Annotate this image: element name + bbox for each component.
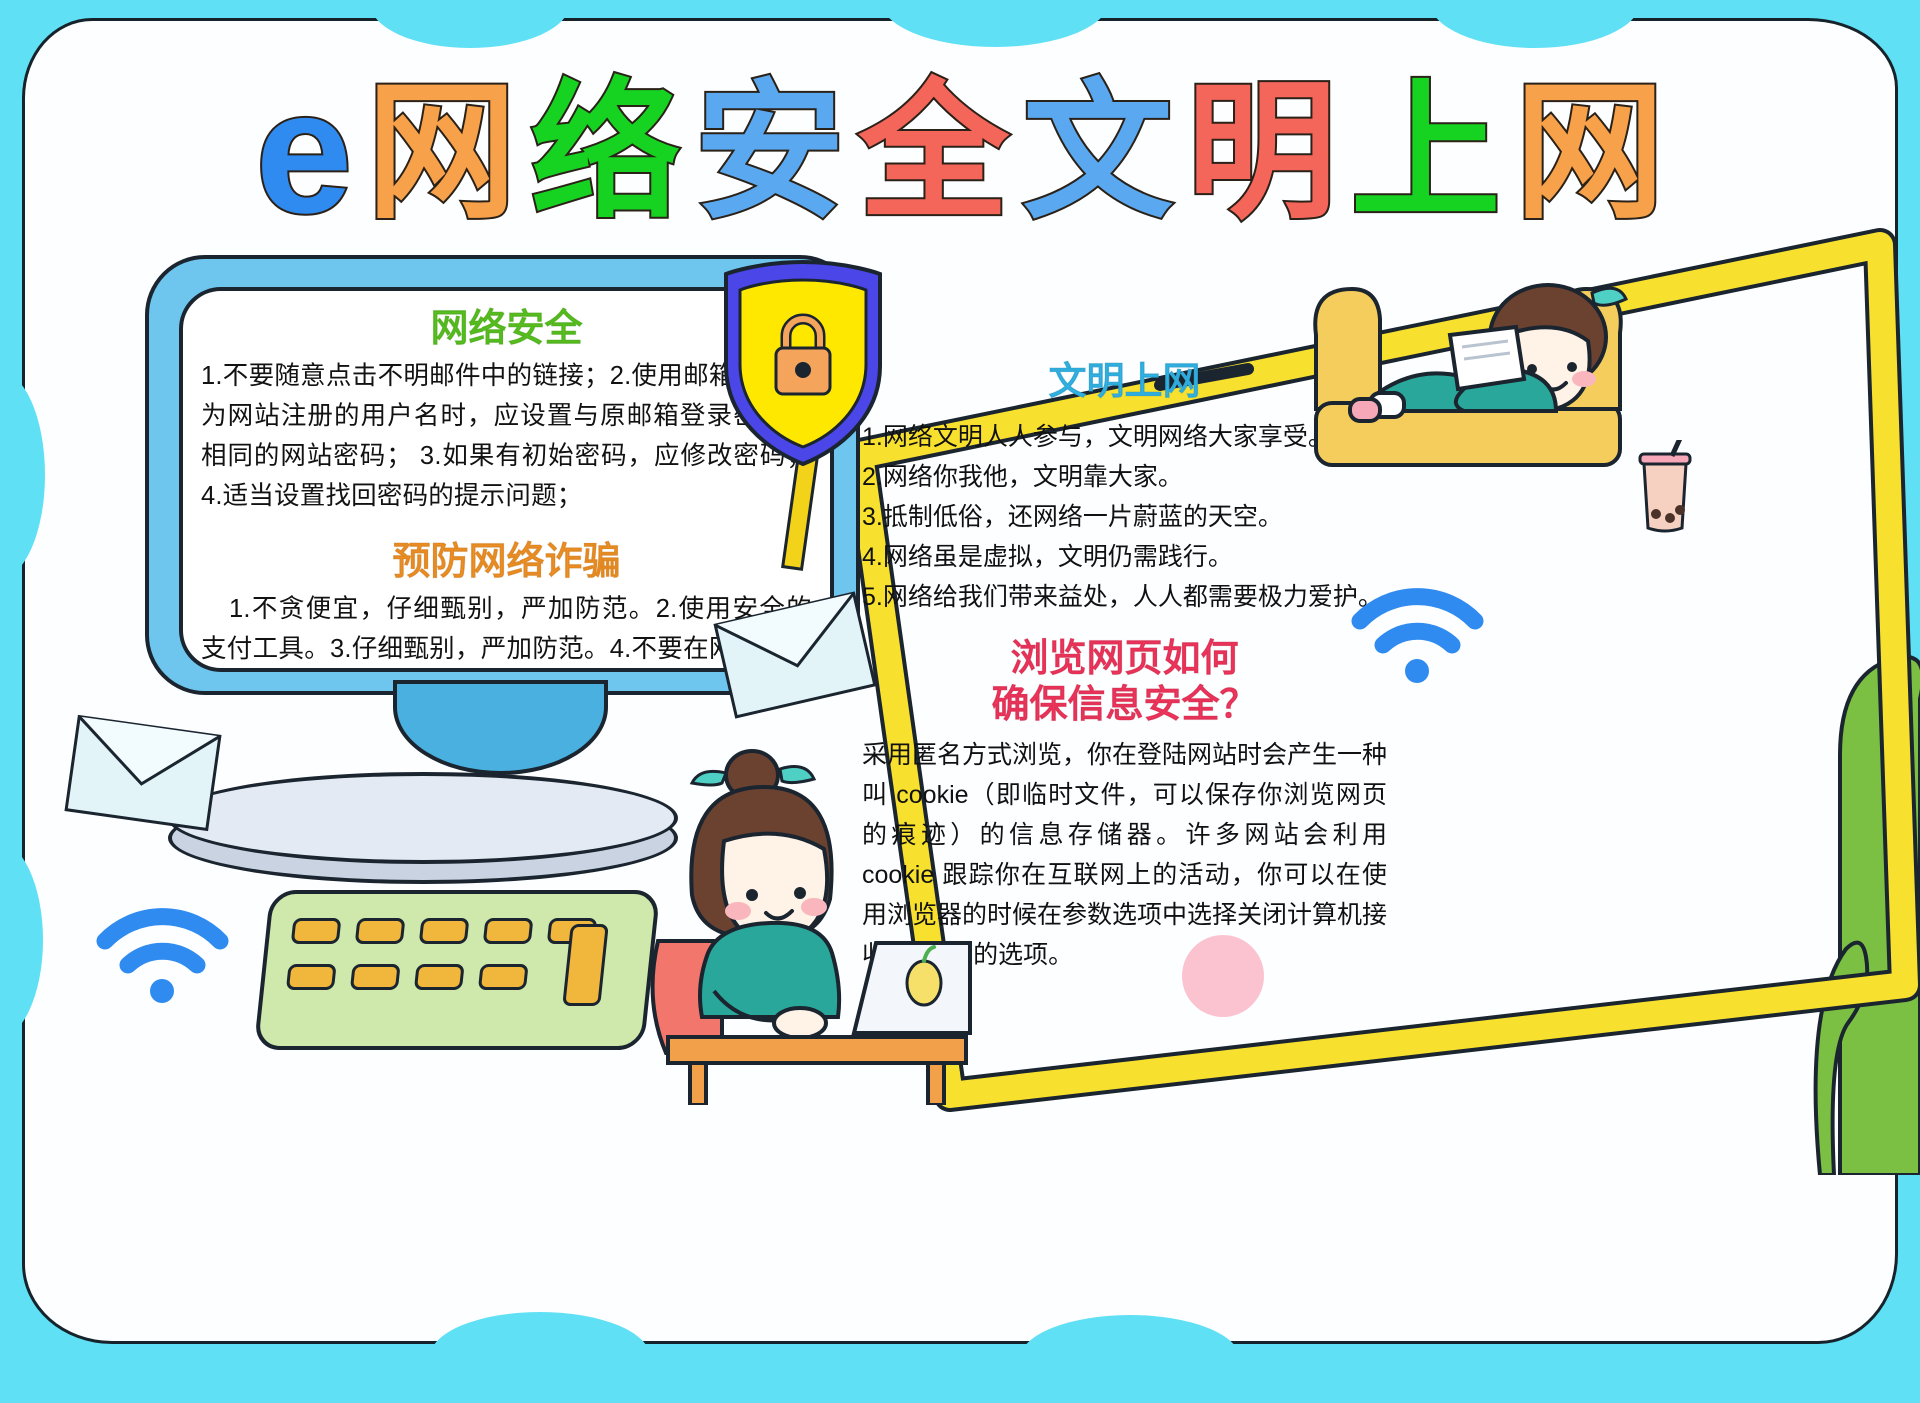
title-char-7: 上: [1351, 78, 1501, 228]
list-item: 1.网络文明人人参与，文明网络大家享受。: [862, 417, 1387, 457]
keyboard-key: [478, 964, 529, 990]
heading-browse-safety: 浏览网页如何 确保信息安全？: [862, 635, 1387, 727]
bubble-tea-icon: [1630, 440, 1700, 535]
keyboard-key: [350, 964, 401, 990]
heading-browse-safety-line2: 确保信息安全？: [862, 681, 1387, 727]
keyboard-spacebar: [562, 924, 609, 1006]
keyboard-key: [483, 918, 534, 944]
heading-browse-safety-line1: 浏览网页如何: [862, 635, 1387, 681]
wifi-icon: [95, 905, 230, 1005]
page-title: e 网 络 安 全 文 明 上 网: [60, 58, 1860, 248]
monitor-base: [168, 772, 678, 864]
list-item: 5.网络给我们带来益处，人人都需要极力爱护。: [862, 577, 1387, 617]
list-item: 4.网络虽是虚拟，文明仍需践行。: [862, 537, 1387, 577]
shield-icon: [718, 258, 888, 468]
title-char-4: 全: [859, 78, 1009, 228]
keyboard-illustration: [254, 890, 661, 1050]
keyboard-key: [419, 918, 470, 944]
heading-civilized-internet: 文明上网: [862, 350, 1387, 405]
title-char-1: 网: [367, 78, 517, 228]
keyboard-key: [286, 964, 337, 990]
title-char-2: 络: [531, 78, 681, 228]
title-char-5: 文: [1023, 78, 1173, 228]
wifi-icon: [1350, 585, 1485, 685]
title-char-8: 网: [1515, 78, 1665, 228]
keyboard-key: [414, 964, 465, 990]
title-char-6: 明: [1187, 78, 1337, 228]
title-char-0: e: [255, 78, 352, 228]
keyboard-key: [355, 918, 406, 944]
list-item: 3.抵制低俗，还网络一片蔚蓝的天空。: [862, 497, 1387, 537]
title-char-3: 安: [695, 78, 845, 228]
girl-reading-on-sofa-illustration: [1310, 275, 1640, 525]
list-item: 2.网络你我他，文明靠大家。: [862, 457, 1387, 497]
list-civilized-internet: 1.网络文明人人参与，文明网络大家享受。 2.网络你我他，文明靠大家。 3.抵制…: [862, 417, 1387, 617]
girl-using-laptop-illustration: [640, 745, 1000, 1105]
heading-prevent-fraud: 预防网络诈骗: [183, 530, 830, 585]
keyboard-key: [291, 918, 342, 944]
envelope-icon: [61, 708, 225, 838]
